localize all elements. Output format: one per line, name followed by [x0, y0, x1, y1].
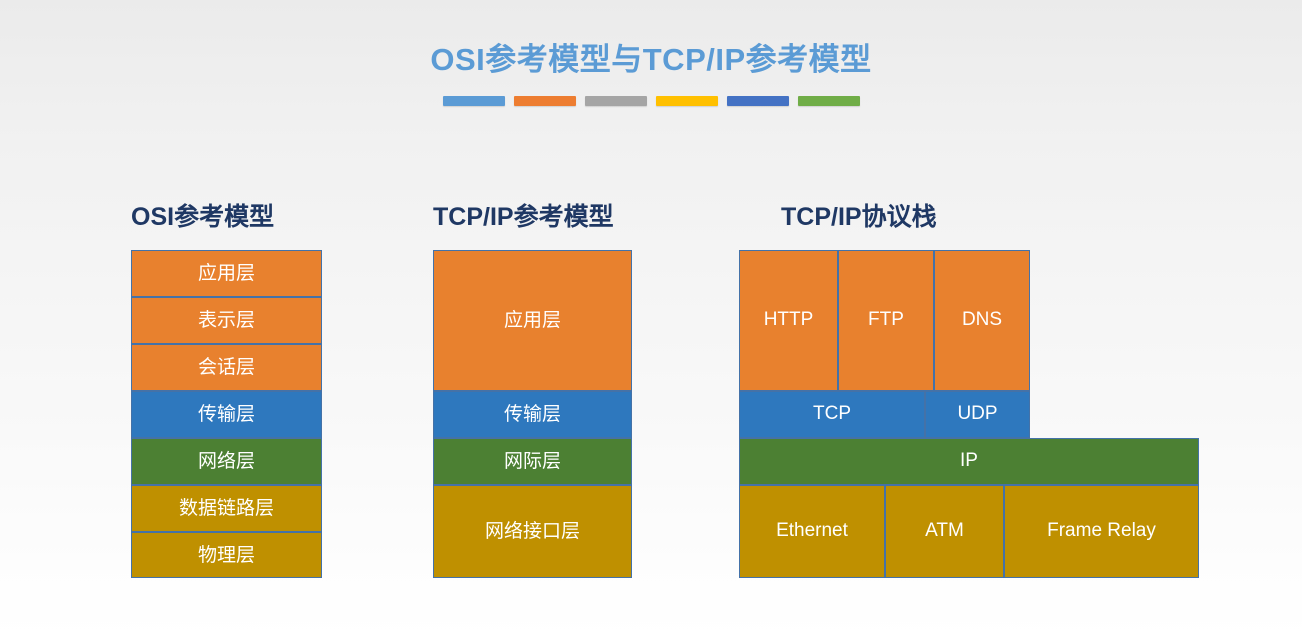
- osi-layer-transport[interactable]: 传输层: [131, 391, 322, 438]
- stack-protocol-ethernet[interactable]: Ethernet: [739, 485, 885, 578]
- tcpip-model-layer-application[interactable]: 应用层: [433, 250, 632, 391]
- osi-layer-presentation[interactable]: 表示层: [131, 297, 322, 344]
- divider-segment-orange: [514, 96, 576, 106]
- divider-segment-gray: [585, 96, 647, 106]
- tcpip-model-column-heading: TCP/IP参考模型: [433, 197, 614, 233]
- osi-layer-physical[interactable]: 物理层: [131, 532, 322, 578]
- osi-column-heading: OSI参考模型: [131, 197, 274, 233]
- osi-layer-session[interactable]: 会话层: [131, 344, 322, 391]
- tcpip-stack-column-heading: TCP/IP协议栈: [781, 197, 937, 233]
- stack-protocol-frame-relay[interactable]: Frame Relay: [1004, 485, 1199, 578]
- tcpip-model-layer-transport[interactable]: 传输层: [433, 391, 632, 438]
- osi-layer-network[interactable]: 网络层: [131, 438, 322, 485]
- page-title: OSI参考模型与TCP/IP参考模型: [0, 34, 1302, 79]
- osi-layer-data-link[interactable]: 数据链路层: [131, 485, 322, 532]
- osi-layer-application[interactable]: 应用层: [131, 250, 322, 297]
- stack-protocol-ip[interactable]: IP: [739, 438, 1199, 485]
- stack-protocol-tcp[interactable]: TCP: [739, 391, 925, 438]
- divider-segment-blue: [727, 96, 789, 106]
- tcpip-model-layer-network-interface[interactable]: 网络接口层: [433, 485, 632, 578]
- stack-protocol-atm[interactable]: ATM: [885, 485, 1004, 578]
- divider-segment-green: [798, 96, 860, 106]
- slide-canvas: OSI参考模型与TCP/IP参考模型 OSI参考模型 TCP/IP参考模型 TC…: [0, 0, 1302, 640]
- divider-segment-yellow: [656, 96, 718, 106]
- tcpip-model-layer-internet[interactable]: 网际层: [433, 438, 632, 485]
- stack-protocol-http[interactable]: HTTP: [739, 250, 838, 391]
- stack-protocol-udp[interactable]: UDP: [925, 391, 1030, 438]
- title-divider: [0, 96, 1302, 106]
- stack-protocol-dns[interactable]: DNS: [934, 250, 1030, 391]
- stack-protocol-ftp[interactable]: FTP: [838, 250, 934, 391]
- divider-segment-light-blue: [443, 96, 505, 106]
